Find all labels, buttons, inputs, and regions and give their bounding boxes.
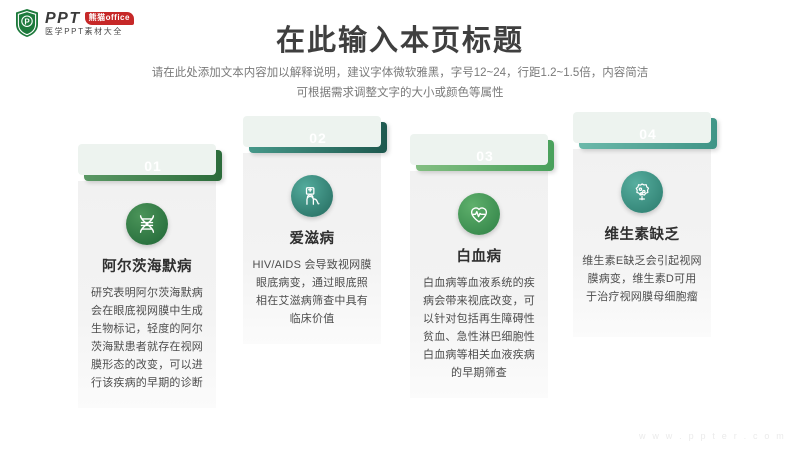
- page-subtitle: 请在此处添加文本内容加以解释说明，建议字体微软雅黑，字号12~24，行距1.2~…: [80, 63, 720, 103]
- card-text: 维生素E缺乏会引起视网膜病变，维生素D可用于治疗视网膜母细胞瘤: [582, 252, 702, 306]
- card-number-badge: 02: [249, 122, 387, 153]
- page-subtitle-line-2: 可根据需求调整文字的大小或颜色等属性: [80, 83, 720, 103]
- card-body: 阿尔茨海默病 研究表明阿尔茨海默病会在眼底视网膜中生成生物标记，轻度的阿尔茨海默…: [78, 181, 216, 408]
- card-text: 研究表明阿尔茨海默病会在眼底视网膜中生成生物标记，轻度的阿尔茨海默患者就存在视网…: [87, 284, 207, 392]
- info-card-03[interactable]: 03 白血病 白血病等血液系统的疾病会带来视底改变，可以针对包括再生障碍性贫血、…: [410, 140, 548, 398]
- card-body: 爱滋病 HIV/AIDS 会导致视网膜眼底病变，通过眼底照相在艾滋病筛查中具有临…: [243, 153, 381, 344]
- info-card-02[interactable]: 02 爱滋病 HIV/AIDS 会导致视网膜眼底病变，通过眼底照相在艾滋病筛查中…: [243, 122, 381, 344]
- heart-pulse-icon: [458, 193, 500, 235]
- card-body: 白血病 白血病等血液系统的疾病会带来视底改变，可以针对包括再生障碍性贫血、急性淋…: [410, 171, 548, 398]
- doctor-icon: [291, 175, 333, 217]
- site-watermark: w w w . p p t e r . c o m: [639, 431, 786, 441]
- card-body: 维生素缺乏 维生素E缺乏会引起视网膜病变，维生素D可用于治疗视网膜母细胞瘤: [573, 149, 711, 337]
- page-subtitle-line-1: 请在此处添加文本内容加以解释说明，建议字体微软雅黑，字号12~24，行距1.2~…: [80, 63, 720, 83]
- card-title: 白血病: [419, 245, 539, 266]
- virus-cell-icon: [621, 171, 663, 213]
- card-number-badge: 01: [84, 150, 222, 181]
- card-number-badge: 03: [416, 140, 554, 171]
- card-text: 白血病等血液系统的疾病会带来视底改变，可以针对包括再生障碍性贫血、急性淋巴细胞性…: [419, 274, 539, 382]
- card-text: HIV/AIDS 会导致视网膜眼底病变，通过眼底照相在艾滋病筛查中具有临床价值: [252, 256, 372, 328]
- card-title: 爱滋病: [252, 227, 372, 248]
- card-title: 维生素缺乏: [582, 223, 702, 244]
- dna-icon: [126, 203, 168, 245]
- page-title: 在此输入本页标题: [0, 17, 800, 59]
- info-card-04[interactable]: 04 维生素缺乏 维生素E缺乏会引起视网膜病变，维生素D可用于治疗视网膜母细胞瘤: [573, 118, 711, 337]
- info-card-01[interactable]: 01 阿尔茨海默病 研究表明阿尔茨海默病会在眼底视网膜中生成生物标记，轻度的阿尔…: [78, 150, 216, 408]
- card-number-badge: 04: [579, 118, 717, 149]
- card-title: 阿尔茨海默病: [87, 255, 207, 276]
